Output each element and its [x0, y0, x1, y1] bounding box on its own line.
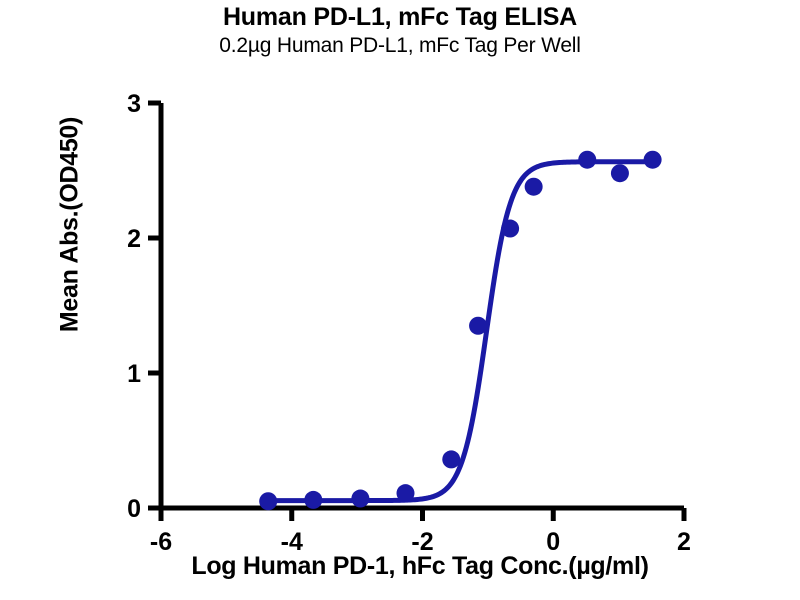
y-tick-label: 0 [127, 495, 141, 523]
data-point [469, 317, 487, 335]
data-point [259, 492, 277, 510]
y-tick-label: 2 [127, 225, 141, 253]
data-point-group [259, 151, 661, 511]
y-axis-tick-labels: 0123 [127, 90, 141, 523]
data-point [351, 490, 369, 508]
y-axis-label: Mean Abs.(OD450) [56, 75, 85, 375]
data-point [578, 151, 596, 169]
y-tick-label: 1 [127, 360, 141, 388]
x-axis-label: Log Human PD-1, hFc Tag Conc.(µg/ml) [100, 552, 740, 581]
y-tick-label: 3 [127, 90, 141, 118]
data-point [397, 484, 415, 502]
chart-figure: Human PD-L1, mFc Tag ELISA 0.2µg Human P… [0, 0, 800, 600]
data-point [611, 164, 629, 182]
plot-area: -6-4-202 0123 [0, 0, 800, 600]
data-point [525, 178, 543, 196]
data-point [304, 491, 322, 509]
data-point [442, 450, 460, 468]
data-point [501, 220, 519, 238]
sigmoid-fit-curve [268, 162, 652, 501]
data-point [644, 151, 662, 169]
